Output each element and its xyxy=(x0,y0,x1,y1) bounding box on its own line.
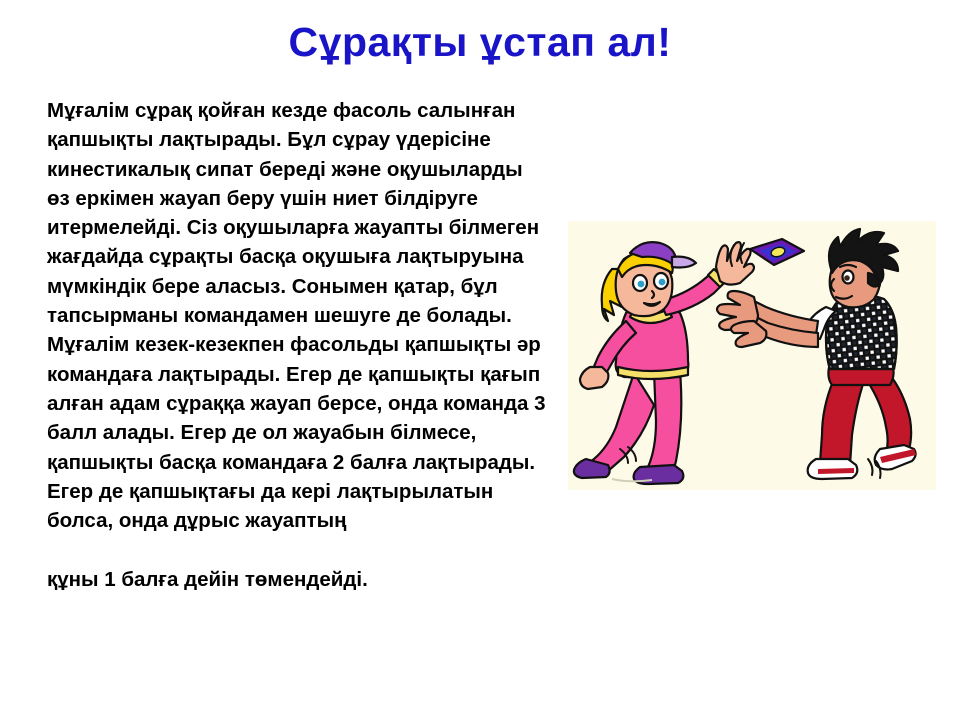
page-title: Сұрақты ұстап ал! xyxy=(0,18,960,66)
body-paragraph-1: Мұғалім сұрақ қойған кезде фасоль салынғ… xyxy=(47,96,547,535)
girl-iris-right xyxy=(659,279,666,286)
boy-iris xyxy=(844,275,850,281)
body-text-block: Мұғалім сұрақ қойған кезде фасоль салынғ… xyxy=(47,96,547,594)
boy-back-shoe-stripe xyxy=(818,468,854,474)
girl-iris-left xyxy=(638,281,645,288)
body-paragraph-2: құны 1 балға дейін төмендейді. xyxy=(47,565,547,594)
slide-canvas: Сұрақты ұстап ал! Мұғалім сұрақ қойған к… xyxy=(0,0,960,720)
girl-back-hand xyxy=(580,367,608,389)
illustration-two-kids-beanbag xyxy=(568,221,936,490)
